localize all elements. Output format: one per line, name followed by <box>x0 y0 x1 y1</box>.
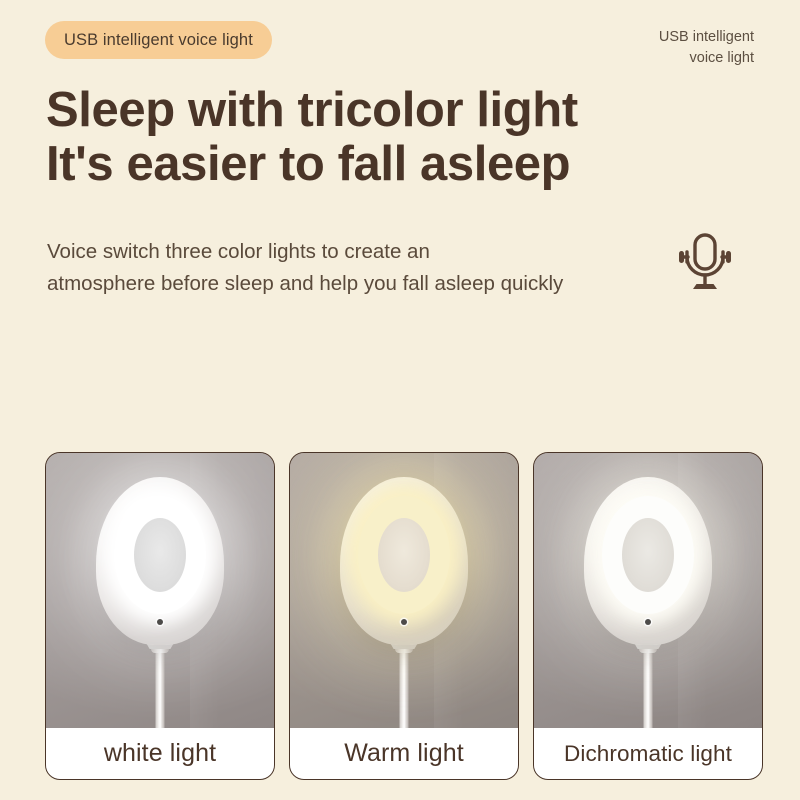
lamp-stem <box>644 649 653 728</box>
product-photo-warm-light <box>290 453 518 728</box>
product-card-row: white light Warm light <box>45 452 763 778</box>
lamp-light-ring <box>602 496 694 614</box>
corner-brand-label-line2: voice light <box>659 48 754 69</box>
voice-sensor-dot <box>645 619 651 625</box>
product-card-label-band: Dichromatic light <box>534 728 762 779</box>
product-card-label: Warm light <box>344 739 464 768</box>
product-badge-label: USB intelligent voice light <box>64 31 253 50</box>
lamp-light-ring <box>114 496 206 614</box>
voice-sensor-dot <box>401 619 407 625</box>
product-card-label-band: Warm light <box>290 728 518 779</box>
product-photo-dichromatic-light <box>534 453 762 728</box>
lamp-stem <box>156 649 165 728</box>
voice-sensor-dot <box>157 619 163 625</box>
product-badge: USB intelligent voice light <box>45 21 272 59</box>
product-card-label: Dichromatic light <box>564 741 732 767</box>
corner-brand-label: USB intelligent voice light <box>659 27 754 68</box>
product-card-label: white light <box>104 739 216 768</box>
page-title: Sleep with tricolor light It's easier to… <box>46 84 578 192</box>
product-card-dichromatic-light[interactable]: Dichromatic light <box>533 452 763 780</box>
product-card-label-band: white light <box>46 728 274 779</box>
product-photo-white-light <box>46 453 274 728</box>
lamp-light-ring <box>358 496 450 614</box>
product-card-white-light[interactable]: white light <box>45 452 275 780</box>
page-title-line2: It's easier to fall asleep <box>46 138 578 192</box>
microphone-icon <box>672 231 738 295</box>
lamp-ring-core <box>622 518 674 592</box>
page-title-line1: Sleep with tricolor light <box>46 84 578 138</box>
page-description: Voice switch three color lights to creat… <box>47 236 687 301</box>
lamp-ring-core <box>134 518 186 592</box>
lamp-ring-core <box>378 518 430 592</box>
page-description-line2: atmosphere before sleep and help you fal… <box>47 268 687 300</box>
product-card-warm-light[interactable]: Warm light <box>289 452 519 780</box>
corner-brand-label-line1: USB intelligent <box>659 27 754 48</box>
page-description-line1: Voice switch three color lights to creat… <box>47 236 687 268</box>
lamp-stem <box>400 649 409 728</box>
